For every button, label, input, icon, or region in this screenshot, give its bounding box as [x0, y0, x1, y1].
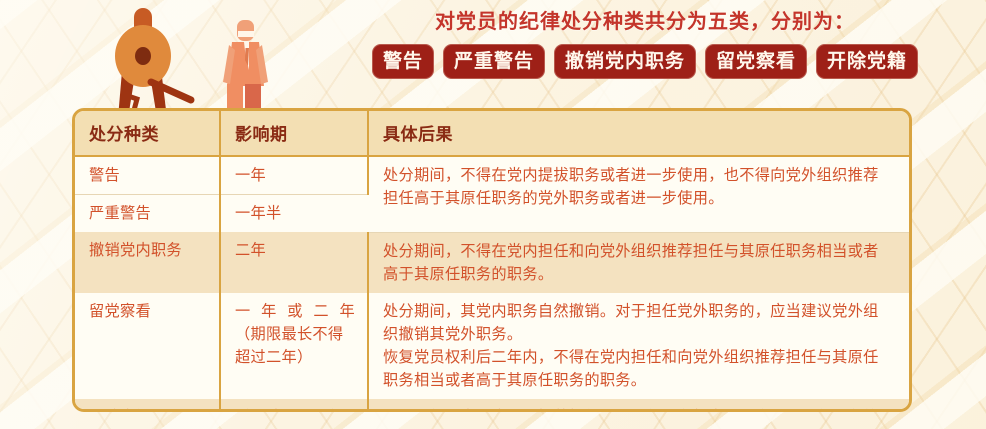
column-header-consequence: 具体后果	[368, 111, 909, 156]
table-header-row: 处分种类 影响期 具体后果	[75, 111, 909, 156]
tag-expulsion[interactable]: 开除党籍	[816, 44, 918, 79]
cell-consequence-remove-post: 处分期间，不得在党内担任和向党外组织推荐担任与其原任职务相当或者高于其原任职务的…	[368, 232, 909, 293]
table-body: 警告 一年 处分期间，不得在党内提拔职务或者进一步使用，也不得向党外组织推荐担任…	[75, 156, 909, 412]
consequence-paragraph-2: 恢复党员权利后二年内，不得在党内担任和向党外组织推荐担任与其原任职务相当或者高于…	[383, 346, 893, 392]
page-title: 对党员的纪律处分种类共分为五类，分别为：	[435, 6, 855, 36]
column-header-type: 处分种类	[75, 111, 220, 156]
tag-remove-party-post[interactable]: 撤销党内职务	[554, 44, 696, 79]
cell-type-probation: 留党察看	[75, 293, 220, 399]
tag-warning[interactable]: 警告	[372, 44, 434, 79]
table-row: 撤销党内职务 二年 处分期间，不得在党内担任和向党外组织推荐担任与其原任职务相当…	[75, 232, 909, 293]
punishment-table: 处分种类 影响期 具体后果 警告 一年 处分期间，不得在党内提拔职务或者进一步使…	[72, 108, 912, 412]
cell-consequence-warning: 处分期间，不得在党内提拔职务或者进一步使用，也不得向党外组织推荐担任高于其原任职…	[368, 156, 909, 232]
column-header-period: 影响期	[220, 111, 368, 156]
tag-serious-warning[interactable]: 严重警告	[443, 44, 545, 79]
punishment-type-tag-row: 警告 严重警告 撤销党内职务 留党察看 开除党籍	[372, 44, 918, 79]
table-header: 处分种类 影响期 具体后果	[75, 111, 909, 156]
cell-period-serious-warning: 一年半	[220, 195, 368, 233]
cell-period-remove-post: 二年	[220, 232, 368, 293]
cell-period-expulsion: 受到处分后五年	[220, 399, 368, 413]
table-row: 开除党籍 受到处分后五年 不得重新入党，也不得推荐担任与其原任职务相当或者高于其…	[75, 399, 909, 413]
cell-period-warning: 一年	[220, 156, 368, 195]
cell-period-probation: 一年或二年 （期限最长不得超过二年）	[220, 293, 368, 399]
tag-probation[interactable]: 留党察看	[705, 44, 807, 79]
cell-type-warning: 警告	[75, 156, 220, 195]
cell-consequence-expulsion: 不得重新入党，也不得推荐担任与其原任职务相当或者高于其原任职务的党外职务。	[368, 399, 909, 413]
punishment-table-element: 处分种类 影响期 具体后果 警告 一年 处分期间，不得在党内提拔职务或者进一步使…	[75, 111, 909, 412]
header-block: 对党员的纪律处分种类共分为五类，分别为： 警告 严重警告 撤销党内职务 留党察看…	[320, 6, 970, 102]
cell-type-serious-warning: 严重警告	[75, 195, 220, 233]
table-row: 警告 一年 处分期间，不得在党内提拔职务或者进一步使用，也不得向党外组织推荐担任…	[75, 156, 909, 195]
cell-type-expulsion: 开除党籍	[75, 399, 220, 413]
cell-consequence-probation: 处分期间，其党内职务自然撤销。对于担任党外职务的，应当建议党外组织撤销其党外职务…	[368, 293, 909, 399]
table-row: 留党察看 一年或二年 （期限最长不得超过二年） 处分期间，其党内职务自然撤销。对…	[75, 293, 909, 399]
period-note: （期限最长不得超过二年）	[235, 323, 355, 369]
period-main: 一年或二年	[235, 302, 355, 320]
consequence-paragraph-1: 处分期间，其党内职务自然撤销。对于担任党外职务的，应当建议党外组织撤销其党外职务…	[383, 300, 893, 346]
cell-type-remove-post: 撤销党内职务	[75, 232, 220, 293]
